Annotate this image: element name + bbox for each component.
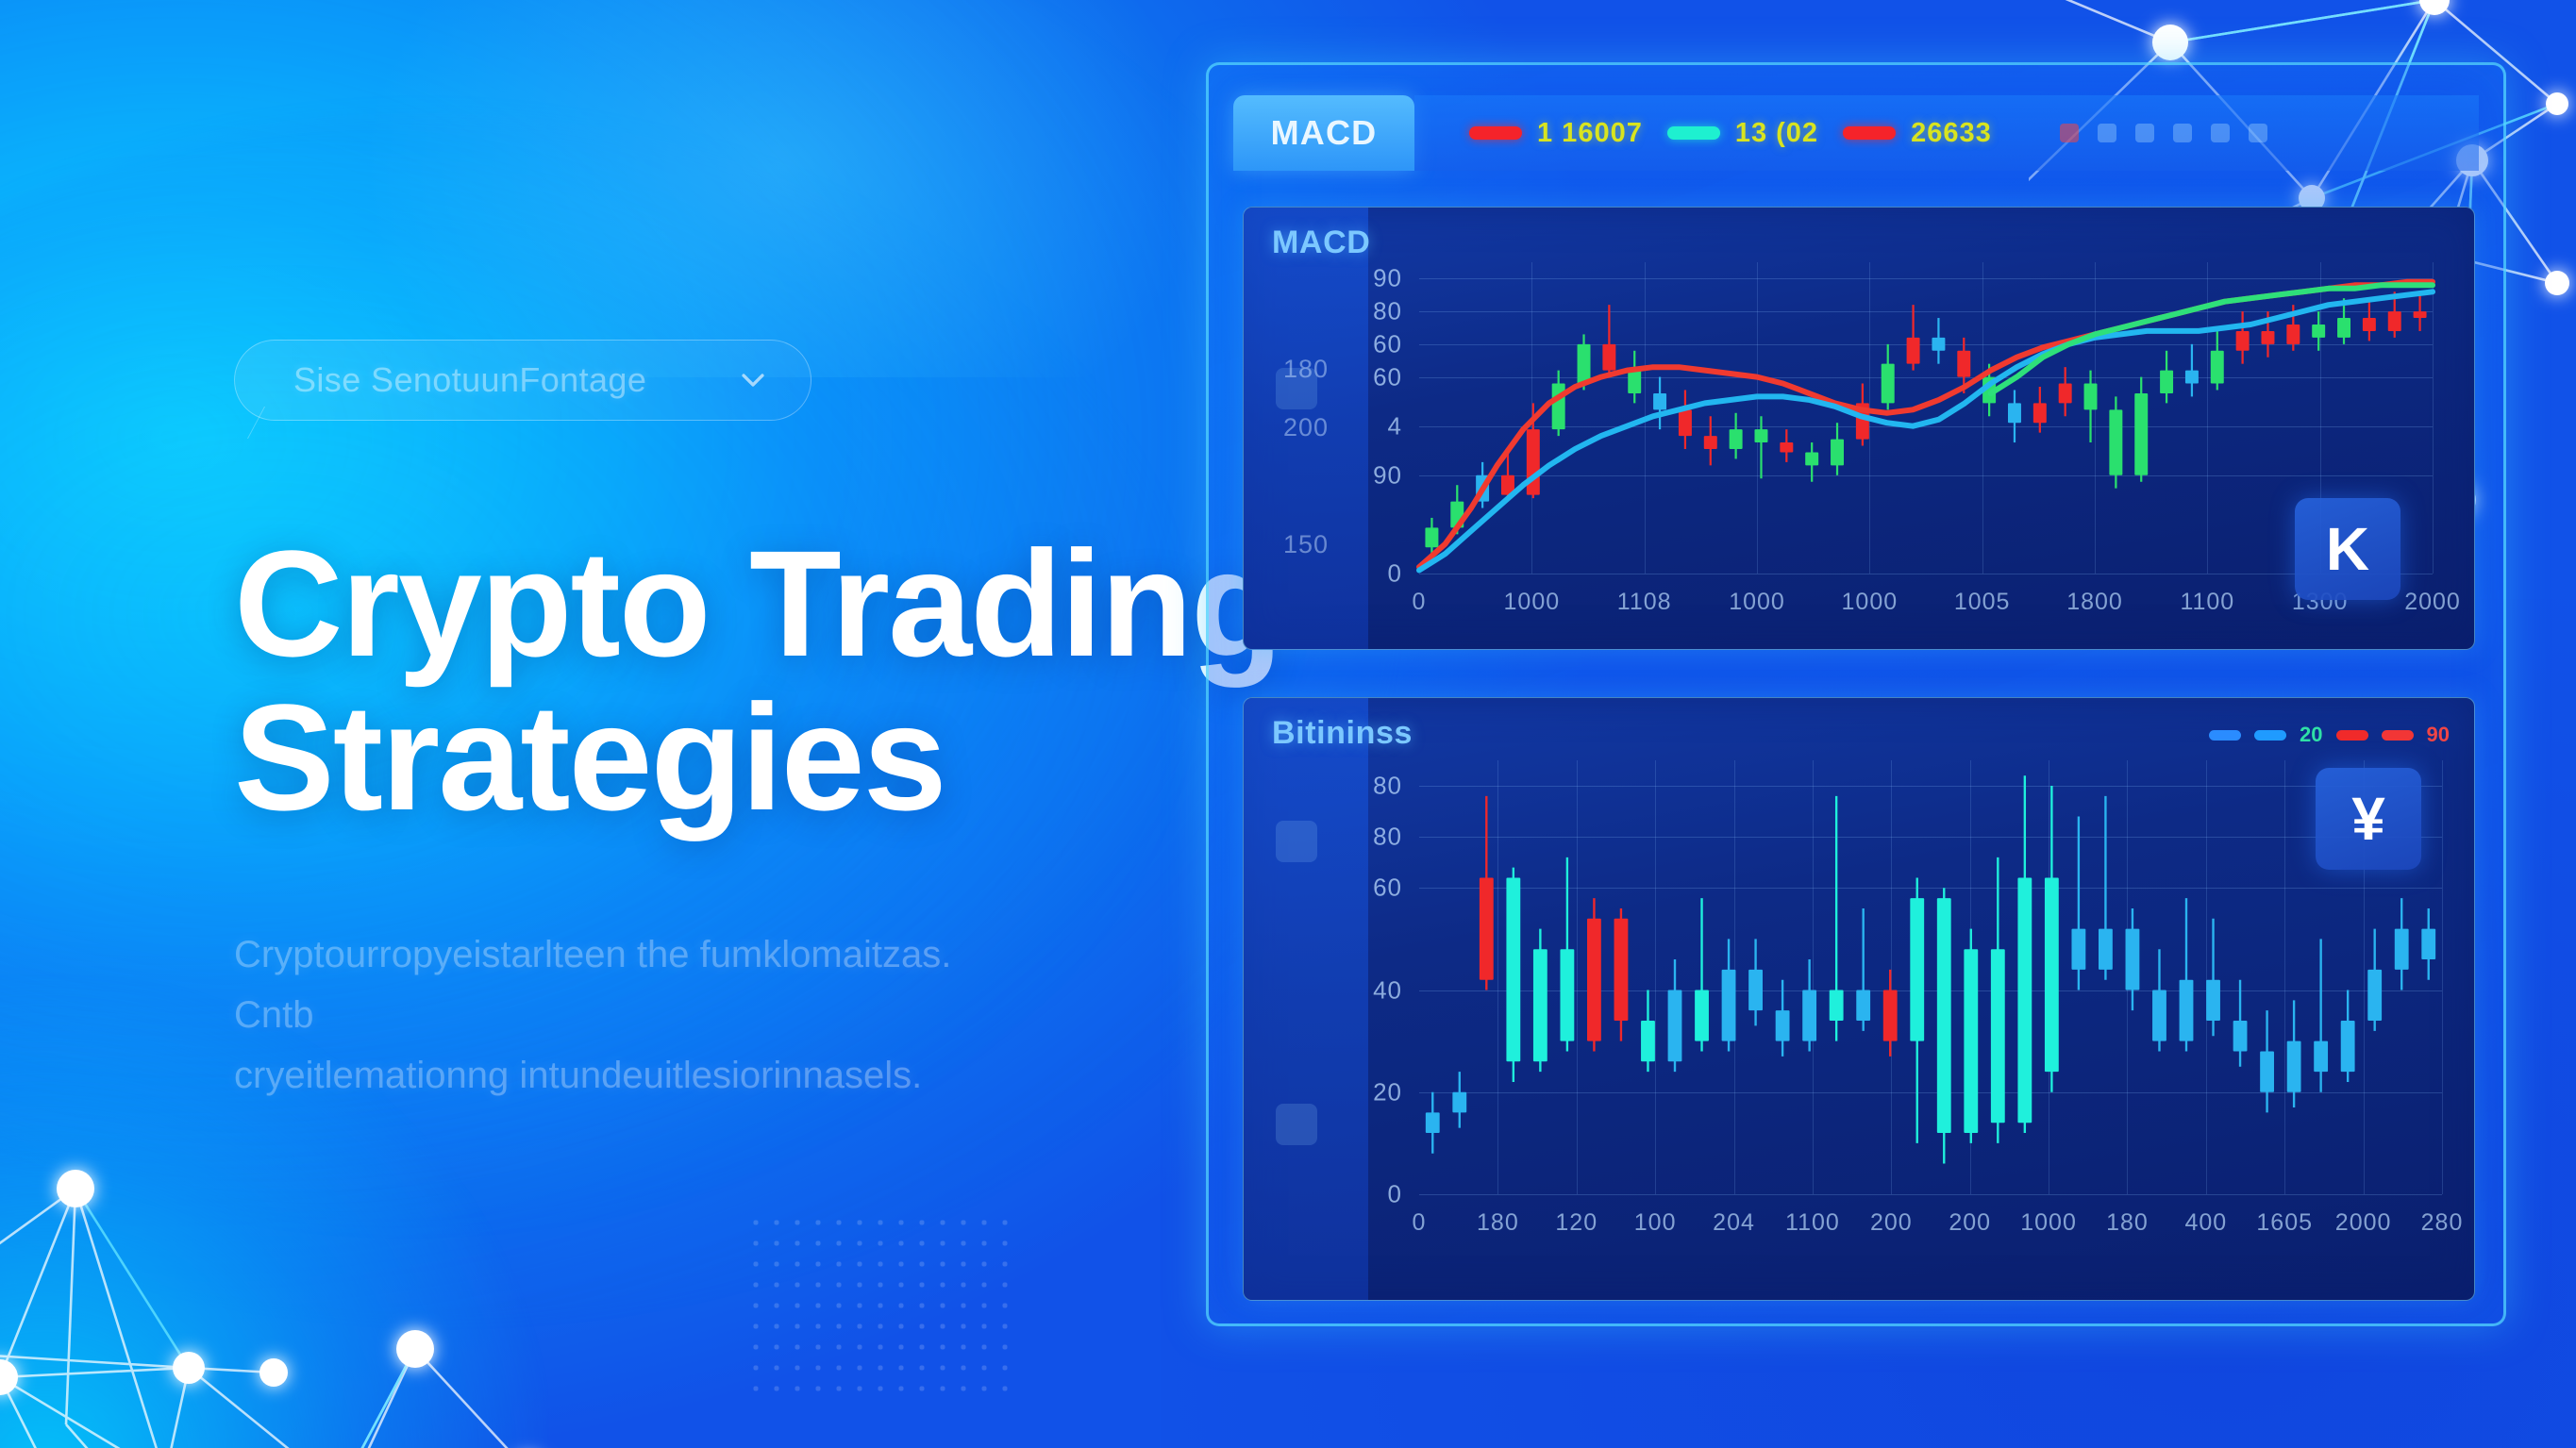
volume-sidebar [1244,698,1368,1300]
candle-body [2363,318,2376,331]
yen-badge: ¥ [2316,768,2421,870]
y-axis-tick-label: 60 [1373,329,1402,358]
y-axis-tick-label: 80 [1373,772,1402,801]
hero-content: Sise SenotuunFontage Crypto Trading Stra… [234,340,1347,1106]
candle-body [1722,970,1736,1041]
macd-plot-area: 9080606049000100011081000100010051800110… [1419,262,2433,574]
legend-dash-red-2 [2382,730,2414,741]
cloud-icon[interactable] [2173,124,2192,142]
candle-body [1668,990,1682,1062]
y-axis-tick-label: 80 [1373,297,1402,326]
candle-body [1883,990,1898,1041]
candle-body [1780,442,1793,452]
y-axis-tick-label: 40 [1373,975,1402,1005]
candle-body [2287,1041,2301,1092]
legend-dash-blue-1 [2209,730,2241,741]
page-title: Crypto Trading Strategies [234,526,1347,834]
y-axis-tick-label: 0 [1388,559,1402,589]
candle-body [1991,949,2005,1123]
candle-body [1830,990,1844,1021]
candle-body [1614,919,1629,1021]
sidebar-square-icon-2 [1276,821,1317,862]
candle-body [1679,409,1692,436]
candle-body [1628,371,1641,393]
record-icon[interactable] [2060,124,2079,142]
macd-sidebar: 180 200 150 [1244,208,1368,649]
x-axis-tick-label: 400 [2184,1209,2227,1237]
page-subtitle-line-2: cryeitlemationng intundeuitlesiorinnasel… [234,1045,1036,1106]
candle-body [1907,338,1920,364]
x-axis-tick-label: 1005 [1954,589,2011,616]
candle-body [1653,393,1666,409]
candle-body [1856,990,1870,1021]
x-axis-tick-label: 180 [2106,1209,2149,1237]
candle-body [2059,384,2072,404]
candle-body [1805,452,1818,465]
macd-series-overlay [1419,262,2433,574]
x-axis-tick-label: 0 [1413,1209,1427,1237]
dropdown-tail-decoration [247,407,308,439]
candle-body [2286,325,2300,344]
sidebar-square-icon-3 [1276,1104,1317,1145]
candle-body [2312,325,2325,338]
candle-body [1527,429,1540,494]
x-axis-tick-label: 1100 [1785,1209,1840,1237]
y-axis-tick-label: 90 [1373,460,1402,490]
candle-body [2367,970,2382,1021]
candle-body [1964,949,1978,1133]
x-axis-tick-label: 2000 [2335,1209,2392,1237]
panel-title-volume: Bitininss [1272,715,1413,752]
macd-sidebar-value-4: 150 [1244,515,1368,574]
candle-body [1641,1021,1655,1061]
x-axis-tick-label: 280 [2421,1209,2464,1237]
page-subtitle-line-1: Cryptourropyeistarlteen the fumklomaitza… [234,924,1036,1045]
candle-body [2134,393,2148,475]
hero-dropdown-label: Sise SenotuunFontage [293,360,646,400]
candle-body [2395,929,2409,970]
candle-body [1426,1112,1440,1133]
caret-left-icon[interactable] [2135,124,2154,142]
candle-body [2206,980,2220,1021]
x-axis-tick-label: 200 [1949,1209,1991,1237]
dot-grid-decoration [745,1212,1019,1391]
candle-body [1602,344,1615,371]
caret-right-icon[interactable] [2211,124,2230,142]
y-axis-tick-label: 60 [1373,874,1402,903]
candle-body [2236,331,2250,351]
macd-sidebar-value-2: 200 [1244,398,1368,457]
candle-body [2045,877,2059,1072]
x-axis-tick-label: 204 [1713,1209,1755,1237]
candle-body [1957,351,1970,377]
candle-body [2008,403,2021,423]
candle-body [2341,1021,2355,1072]
candle-body [2233,1021,2248,1051]
macd-sidebar-value-1: 180 [1244,340,1368,398]
candle-body [1506,877,1520,1061]
x-axis-tick-label: 1800 [2066,589,2123,616]
volume-panel-legend: 20 90 [2209,723,2450,747]
y-axis-tick-label: 90 [1373,264,1402,293]
x-axis-tick-label: 200 [1870,1209,1913,1237]
toolbar-legend-value-2: 26633 [1911,118,1992,149]
x-axis-tick-label: 180 [1477,1209,1519,1237]
legend-swatch-red [1469,126,1522,140]
legend-swatch-red-2 [1843,126,1896,140]
x-axis-tick-label: 100 [1634,1209,1677,1237]
candle-body [2337,318,2350,338]
candle-body [2388,311,2401,331]
chart-panel-macd: 180 200 150 MACD 90806060490001000110810… [1243,207,2475,650]
y-axis-tick-label: 80 [1373,823,1402,852]
gridline-horizontal [1419,1194,2442,1195]
x-axis-tick-label: 1605 [2256,1209,2313,1237]
toolbar-legend-value-0: 1 16007 [1537,118,1643,149]
x-axis-tick-label: 1000 [2020,1209,2077,1237]
candle-body [1802,990,1816,1041]
candle-body [1776,1010,1790,1040]
toolbar-legend-item-2: 26633 [1843,118,1992,149]
candle-body [2185,371,2199,384]
candle-body [1932,338,1945,351]
tabbar-legend-strip: 1 16007 13 (02 26633 [1414,95,2479,171]
gridline-horizontal [1419,574,2433,574]
volume-plot-area: 8080604020001801201002041100200200100018… [1419,760,2442,1194]
candle-body [2260,1051,2274,1091]
candle-body [2126,929,2140,990]
candle-body [1425,527,1438,547]
candle-body [1704,436,1717,449]
macd-sidebar-value-3 [1244,457,1368,515]
candle-body [1695,990,1709,1041]
candle-body [2071,929,2085,970]
x-axis-tick-label: 0 [1413,589,1427,616]
candle-body [1882,364,1895,404]
y-axis-tick-label: 60 [1373,362,1402,391]
toolbar-legend-item-1: 13 (02 [1667,118,1818,149]
dashboard-toolbar-icons [2060,124,2267,142]
candle-body [2152,990,2166,1041]
x-axis-tick-label: 1000 [1504,589,1561,616]
x-axis-tick-label: 1000 [1729,589,1785,616]
chart-panel-volume: Bitininss 20 90 808060402000180120100204… [1243,697,2475,1301]
candle-body [2109,409,2122,474]
candle-body [2180,980,2194,1041]
candle-body [2261,331,2274,344]
tab-macd[interactable]: MACD [1233,95,1414,171]
x-axis-tick-label: 2000 [2404,589,2461,616]
candle-body [2017,877,2032,1123]
candle-body [1730,429,1743,449]
page-subtitle: Cryptourropyeistarlteen the fumklomaitza… [234,924,1036,1106]
toolbar-legend-value-1: 13 (02 [1735,118,1818,149]
toolbar-legend-item-0: 1 16007 [1469,118,1643,149]
stop-icon[interactable] [2249,124,2267,142]
thousands-badge: K [2295,498,2400,600]
gridline-vertical [2442,760,2443,1194]
legend-swatch-cyan [1667,126,1720,140]
hero-dropdown[interactable]: Sise SenotuunFontage [234,340,811,421]
macd-sidebar-values: 180 200 150 [1244,281,1368,574]
y-axis-tick-label: 20 [1373,1077,1402,1107]
candle-body [2099,929,2113,970]
candle-body [1937,898,1951,1133]
background-top-glow [359,0,1208,377]
candle-body [1748,970,1763,1010]
volume-series-overlay [1419,760,2442,1194]
candle-body [1587,919,1601,1041]
candle-body [1452,1092,1466,1113]
legend-dash-red-1 [2336,730,2368,741]
x-axis-tick-label: 1000 [1842,589,1899,616]
candle-body [2084,384,2098,410]
gridline-vertical [2433,262,2434,574]
chevron-down-icon [737,364,769,396]
candle-body [2421,929,2435,959]
candle-body [2414,311,2427,318]
trading-dashboard: MACD 1 16007 13 (02 26633 [1206,62,2506,1326]
candle-body [1533,949,1547,1061]
candle-body [1910,898,1924,1041]
trend-line-ma-slow [1419,291,2433,570]
x-axis-tick-label: 120 [1555,1209,1597,1237]
candle-body [1560,949,1574,1040]
macd-sidebar-value-0 [1244,281,1368,340]
candle-body [2033,403,2047,423]
candle-body [1754,429,1767,442]
candle-body [1831,440,1844,466]
candle-body [1480,877,1494,979]
candle-body [1578,344,1591,384]
dashboard-tabbar: MACD 1 16007 13 (02 26633 [1233,95,2479,171]
page-title-line-1: Crypto Trading [234,519,1281,688]
legend-value-red: 90 [2427,723,2450,747]
candle-body [2160,371,2173,393]
page-title-line-2: Strategies [234,680,1347,834]
x-axis-tick-label: 1108 [1617,589,1672,616]
legend-value-green: 20 [2300,723,2322,747]
x-axis-tick-label: 1100 [2180,589,2234,616]
legend-dash-blue-2 [2254,730,2286,741]
panel-title-macd: MACD [1272,225,1370,261]
y-axis-tick-label: 4 [1388,411,1402,441]
tab-macd-label: MACD [1271,113,1378,153]
candle-body [2314,1041,2328,1072]
y-axis-tick-label: 0 [1388,1180,1402,1209]
square-icon[interactable] [2098,124,2116,142]
candle-body [2211,351,2224,384]
candle-body [1552,384,1565,430]
